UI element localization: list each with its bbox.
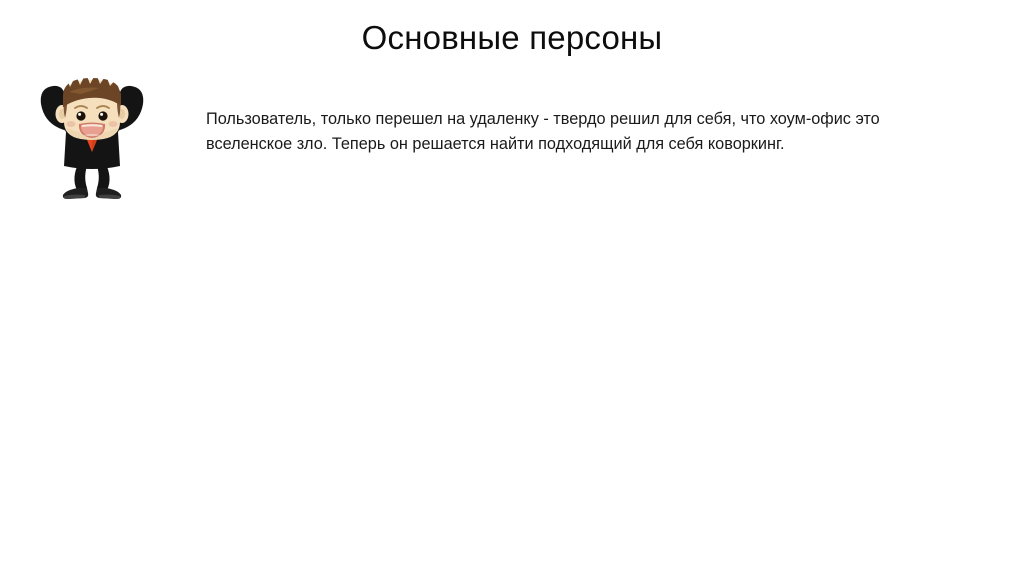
slide-canvas: Основные персоны [0,0,1024,574]
body-paragraph: Пользователь, только перешел на удаленку… [206,107,924,157]
stressed-businessman-illustration [33,66,151,206]
page-title: Основные персоны [0,18,1024,58]
